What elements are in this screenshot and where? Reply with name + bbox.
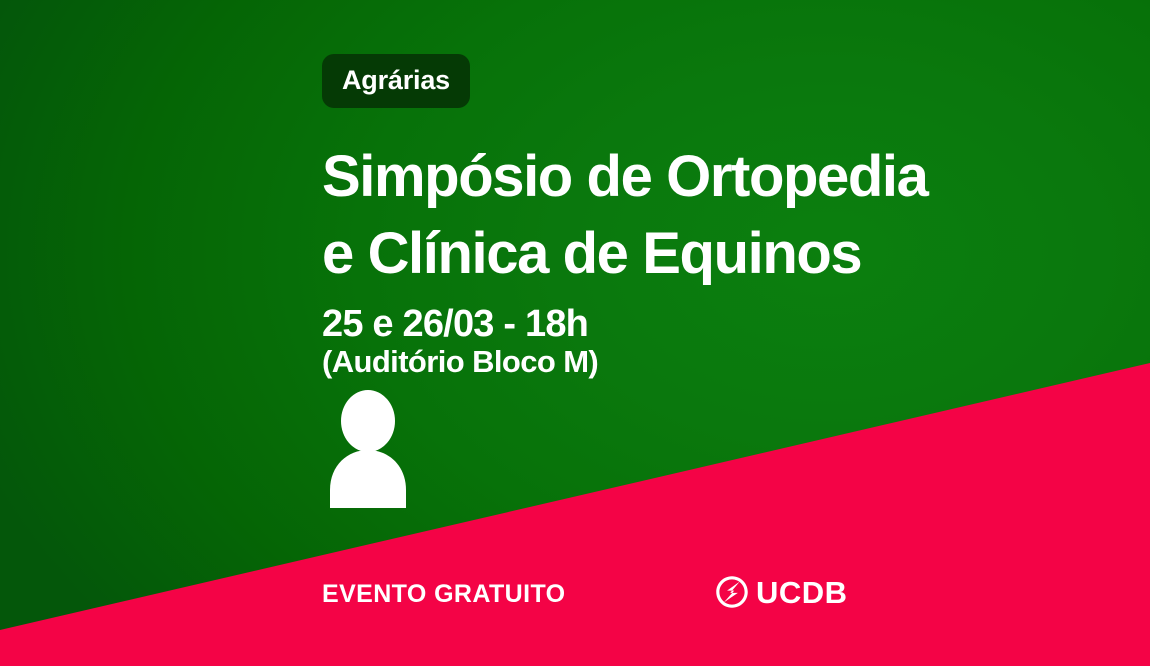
free-event-label: EVENTO GRATUITO xyxy=(322,582,566,607)
ucdb-wordmark: UCDB xyxy=(756,577,848,608)
category-badge: Agrárias xyxy=(322,54,470,108)
event-location: (Auditório Bloco M) xyxy=(322,345,1102,380)
banner-content: Agrárias Simpósio de Ortopedia e Clínica… xyxy=(322,54,1102,379)
event-datetime: 25 e 26/03 - 18h xyxy=(322,304,1102,345)
page-title: Simpósio de Ortopedia e Clínica de Equin… xyxy=(322,139,1102,292)
person-avatar-icon xyxy=(324,390,412,508)
ucdb-logo: UCDB xyxy=(714,574,848,610)
ucdb-swirl-icon xyxy=(714,574,750,610)
event-banner: Agrárias Simpósio de Ortopedia e Clínica… xyxy=(0,0,1150,666)
